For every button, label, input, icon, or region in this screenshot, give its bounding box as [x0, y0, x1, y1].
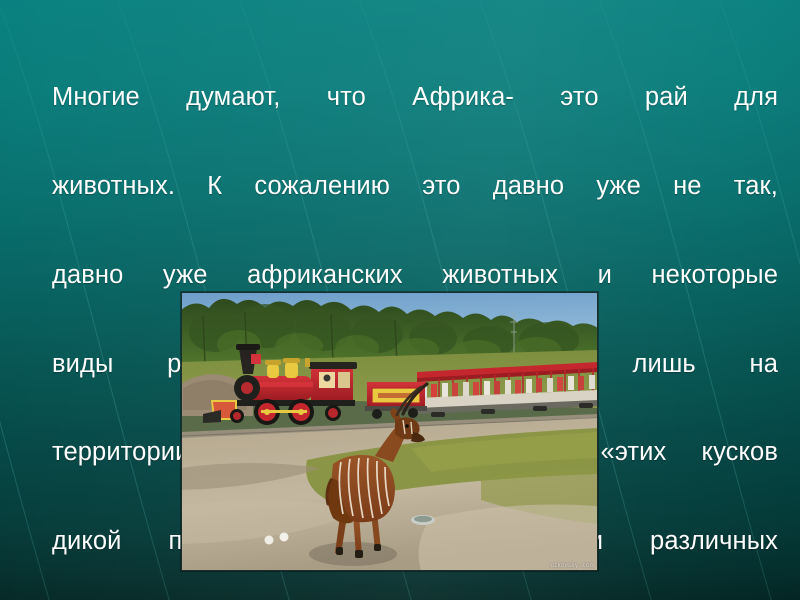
body-text-line: давно уже африканских животных и некотор…	[52, 261, 778, 291]
body-text-line: Многие думают, что Африка- это рай для	[52, 83, 778, 113]
body-text-line: животных. К сожалению это давно уже не т…	[52, 172, 778, 202]
presentation-slide: Многие думают, что Африка- это рай для ж…	[0, 0, 800, 600]
photo-train-and-bongo-antelope: uzkovsky .com	[181, 292, 598, 571]
